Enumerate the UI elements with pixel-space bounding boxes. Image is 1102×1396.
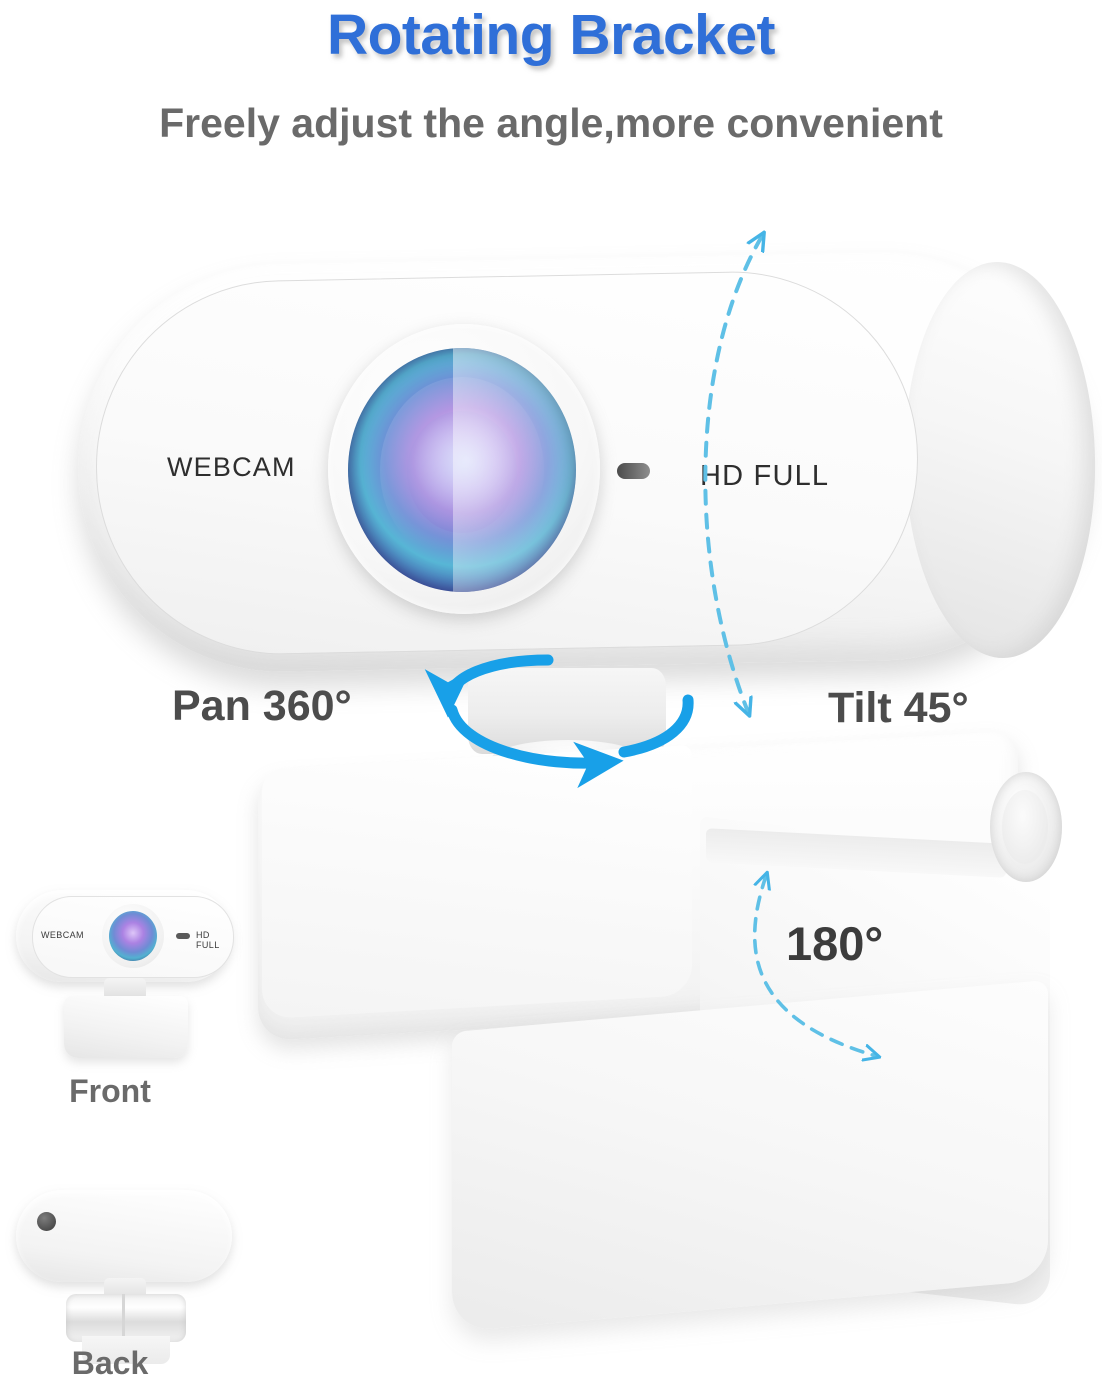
camera-brand-label: WEBCAM	[167, 452, 296, 483]
thumb-front-body: WEBCAM HD FULL	[16, 890, 232, 982]
thumbnail-back-view	[8, 1190, 240, 1340]
thumb-spec-label: HD FULL	[196, 930, 232, 950]
thumbnail-front-view: WEBCAM HD FULL	[8, 890, 240, 1065]
thumb-back-body	[16, 1190, 232, 1282]
bracket-upper-face	[262, 745, 692, 1019]
lens-glass	[348, 348, 576, 592]
thumb-microphone-slot	[176, 933, 190, 939]
thumb-lens-glass	[109, 911, 157, 961]
camera-port-icon	[37, 1212, 56, 1231]
microphone-slot	[617, 463, 650, 479]
thumb-back-hinge	[66, 1294, 186, 1342]
thumb-brand-label: WEBCAM	[41, 930, 84, 940]
thumbnail-front-label: Front	[0, 1073, 225, 1110]
thumbnail-back-label: Back	[0, 1345, 225, 1382]
bracket-hinge-pin	[1002, 790, 1048, 864]
bracket-lower-leg	[452, 980, 1048, 1332]
lens-sheen	[453, 348, 576, 592]
annotation-tilt: Tilt 45°	[828, 684, 969, 733]
thumb-back-hinge-seam	[122, 1294, 125, 1342]
camera-spec-label: HD FULL	[700, 460, 829, 493]
annotation-pan: Pan 360°	[172, 682, 352, 731]
annotation-fold: 180°	[786, 916, 883, 971]
thumb-front-bracket	[64, 996, 188, 1058]
